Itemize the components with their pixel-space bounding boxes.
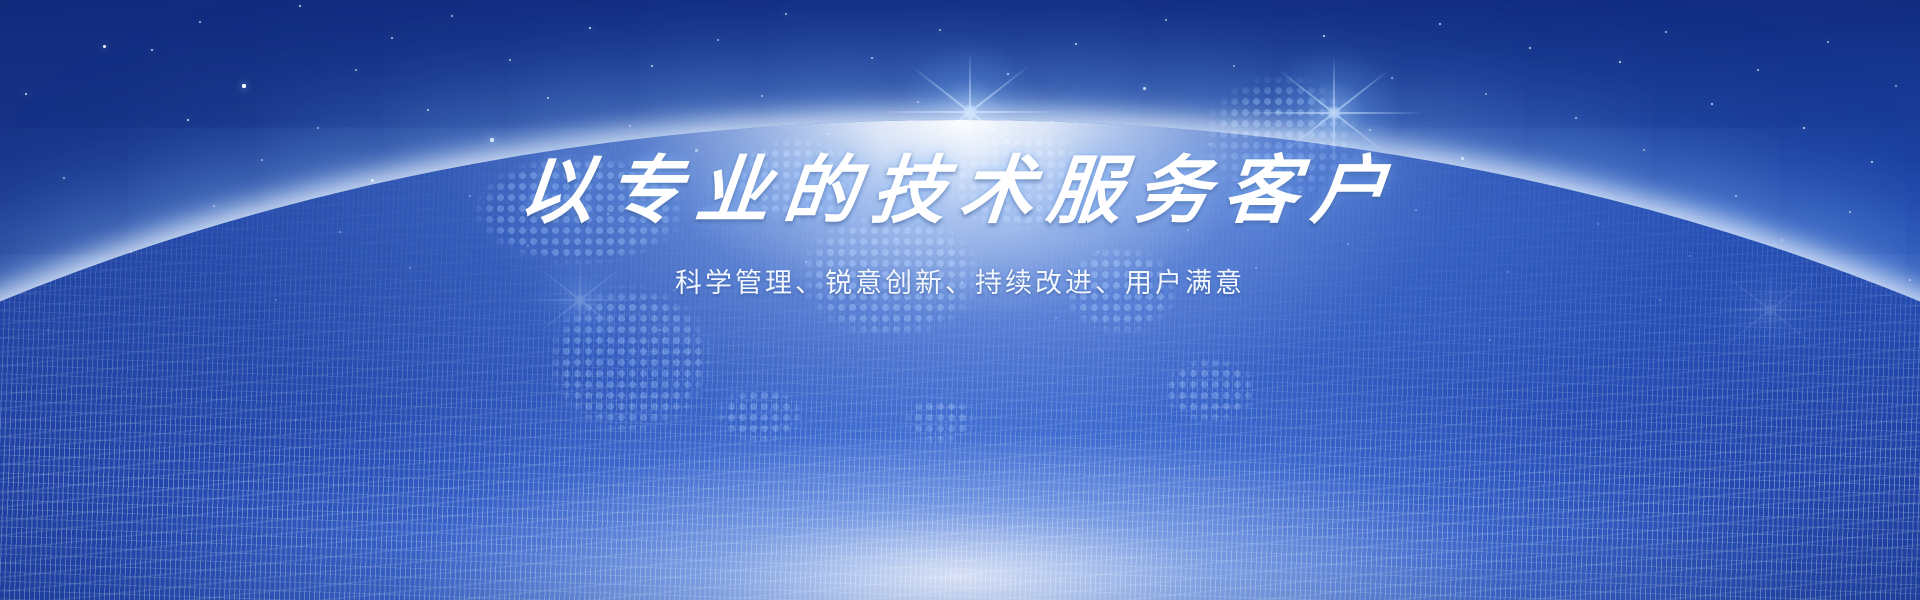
star-dot	[939, 29, 941, 31]
star-dot	[827, 133, 830, 136]
star-dot	[717, 39, 719, 41]
star-dot	[917, 101, 920, 104]
sky-left-tint	[0, 0, 1920, 600]
star-dot	[187, 119, 190, 122]
flare-ray-diagonal-b	[910, 65, 1029, 159]
star-dot	[1075, 43, 1078, 46]
banner-copy: 以专业的技术服务客户 科学管理、锐意创新、持续改进、用户满意	[0, 150, 1920, 300]
flare-ray-diagonal-a	[910, 65, 1029, 159]
star-dot	[1233, 65, 1235, 67]
star-dot	[299, 5, 301, 7]
sky-gradient-background	[0, 0, 1920, 600]
sky-right-tint	[0, 0, 1920, 600]
star-dot	[391, 37, 393, 39]
star-dot	[651, 65, 654, 68]
star-dot	[1619, 61, 1622, 64]
star-dot	[509, 59, 511, 61]
star-dot	[317, 127, 319, 129]
star-dot	[1439, 23, 1441, 25]
star-dot	[490, 138, 493, 141]
star-dot	[1209, 143, 1212, 146]
flare-core	[1326, 105, 1341, 120]
star-dot	[123, 391, 125, 393]
sky-top-overlay	[0, 0, 1920, 600]
star-dot	[103, 45, 106, 48]
star-dot	[1665, 31, 1667, 33]
star-dot	[1165, 19, 1167, 21]
flare-ray-horizontal	[875, 111, 1065, 113]
star-dot	[25, 93, 28, 96]
star-dot	[1529, 47, 1532, 50]
star-dot	[151, 49, 153, 51]
star-dot	[1485, 93, 1487, 95]
flare-ray-horizontal	[1244, 112, 1425, 114]
star-dot	[629, 125, 631, 127]
horizon-glow	[0, 300, 1920, 600]
banner-subheadline: 科学管理、锐意创新、持续改进、用户满意	[0, 261, 1920, 300]
hero-banner: 以专业的技术服务客户 科学管理、锐意创新、持续改进、用户满意	[0, 0, 1920, 600]
star-dot	[1323, 35, 1326, 38]
earth-horizon	[0, 0, 1920, 600]
star-dot	[547, 97, 550, 100]
star-dot	[1575, 117, 1577, 119]
star-dot	[1277, 111, 1279, 113]
star-dot	[207, 357, 209, 359]
star-dot	[1827, 41, 1829, 43]
star-dot	[659, 329, 661, 331]
flare-core	[962, 104, 978, 120]
star-dot	[1489, 339, 1491, 341]
star-dot	[589, 27, 592, 30]
flare-core	[1764, 304, 1777, 317]
lens-flare-group	[0, 0, 1920, 600]
star-dot	[1803, 127, 1806, 130]
star-dot	[1895, 85, 1897, 87]
star-dot	[199, 21, 201, 23]
flare-ray-diagonal-b	[1277, 68, 1390, 157]
star-dot	[355, 69, 357, 71]
star-dot	[1007, 73, 1010, 76]
star-dot	[295, 419, 297, 421]
star-dot	[1055, 317, 1057, 319]
flare-ray-diagonal-a	[1277, 68, 1390, 157]
star-dot	[1757, 69, 1759, 71]
star-dot	[1391, 77, 1393, 79]
star-dot	[1143, 87, 1146, 90]
star-dot	[1369, 129, 1372, 132]
banner-headline: 以专业的技术服务客户	[0, 150, 1920, 233]
starfield	[0, 0, 1920, 600]
star-dot	[47, 329, 49, 331]
star-dot	[1711, 103, 1714, 106]
vignette-overlay	[0, 0, 1920, 600]
star-dot	[1859, 329, 1861, 331]
star-dot	[785, 13, 787, 15]
star-dot	[451, 15, 453, 17]
star-dot	[761, 95, 764, 98]
star-dot	[871, 57, 873, 59]
star-dot	[242, 84, 245, 87]
flare-ray-horizontal	[1694, 309, 1846, 311]
star-dot	[427, 109, 430, 112]
star-dot	[1051, 121, 1053, 123]
